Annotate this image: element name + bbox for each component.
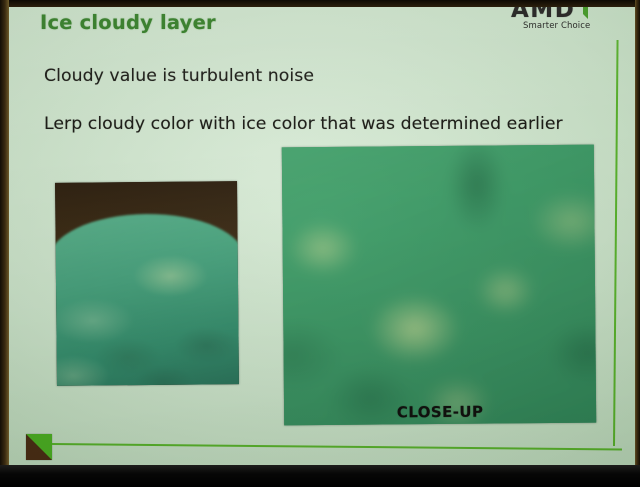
horizontal-accent-rule xyxy=(52,443,622,450)
amd-tagline: Smarter Choice xyxy=(523,21,590,31)
vertical-accent-rule xyxy=(613,40,619,446)
page-title: Ice cloudy layer xyxy=(40,11,216,34)
screen-bezel-top xyxy=(0,0,640,7)
bullet-text-1: Cloudy value is turbulent noise xyxy=(44,66,314,86)
bullet-text-2: Lerp cloudy color with ice color that wa… xyxy=(44,114,569,134)
far-view-ice-ground xyxy=(55,214,239,386)
screen-bezel-bottom xyxy=(0,465,640,487)
close-up-caption: CLOSE-UP xyxy=(284,402,596,423)
projected-slide-photo: Ice cloudy layer AMD Smarter Choice Clou… xyxy=(0,0,640,487)
screen-bezel-left xyxy=(0,0,9,487)
presentation-slide: Ice cloudy layer AMD Smarter Choice Clou… xyxy=(9,6,635,465)
corner-square-marker xyxy=(26,434,52,460)
close-up-noise-texture xyxy=(282,145,596,426)
ice-surface-close-up-image: CLOSE-UP xyxy=(282,145,596,426)
screen-bezel-right xyxy=(635,0,640,487)
ice-surface-far-view-image xyxy=(55,181,239,386)
